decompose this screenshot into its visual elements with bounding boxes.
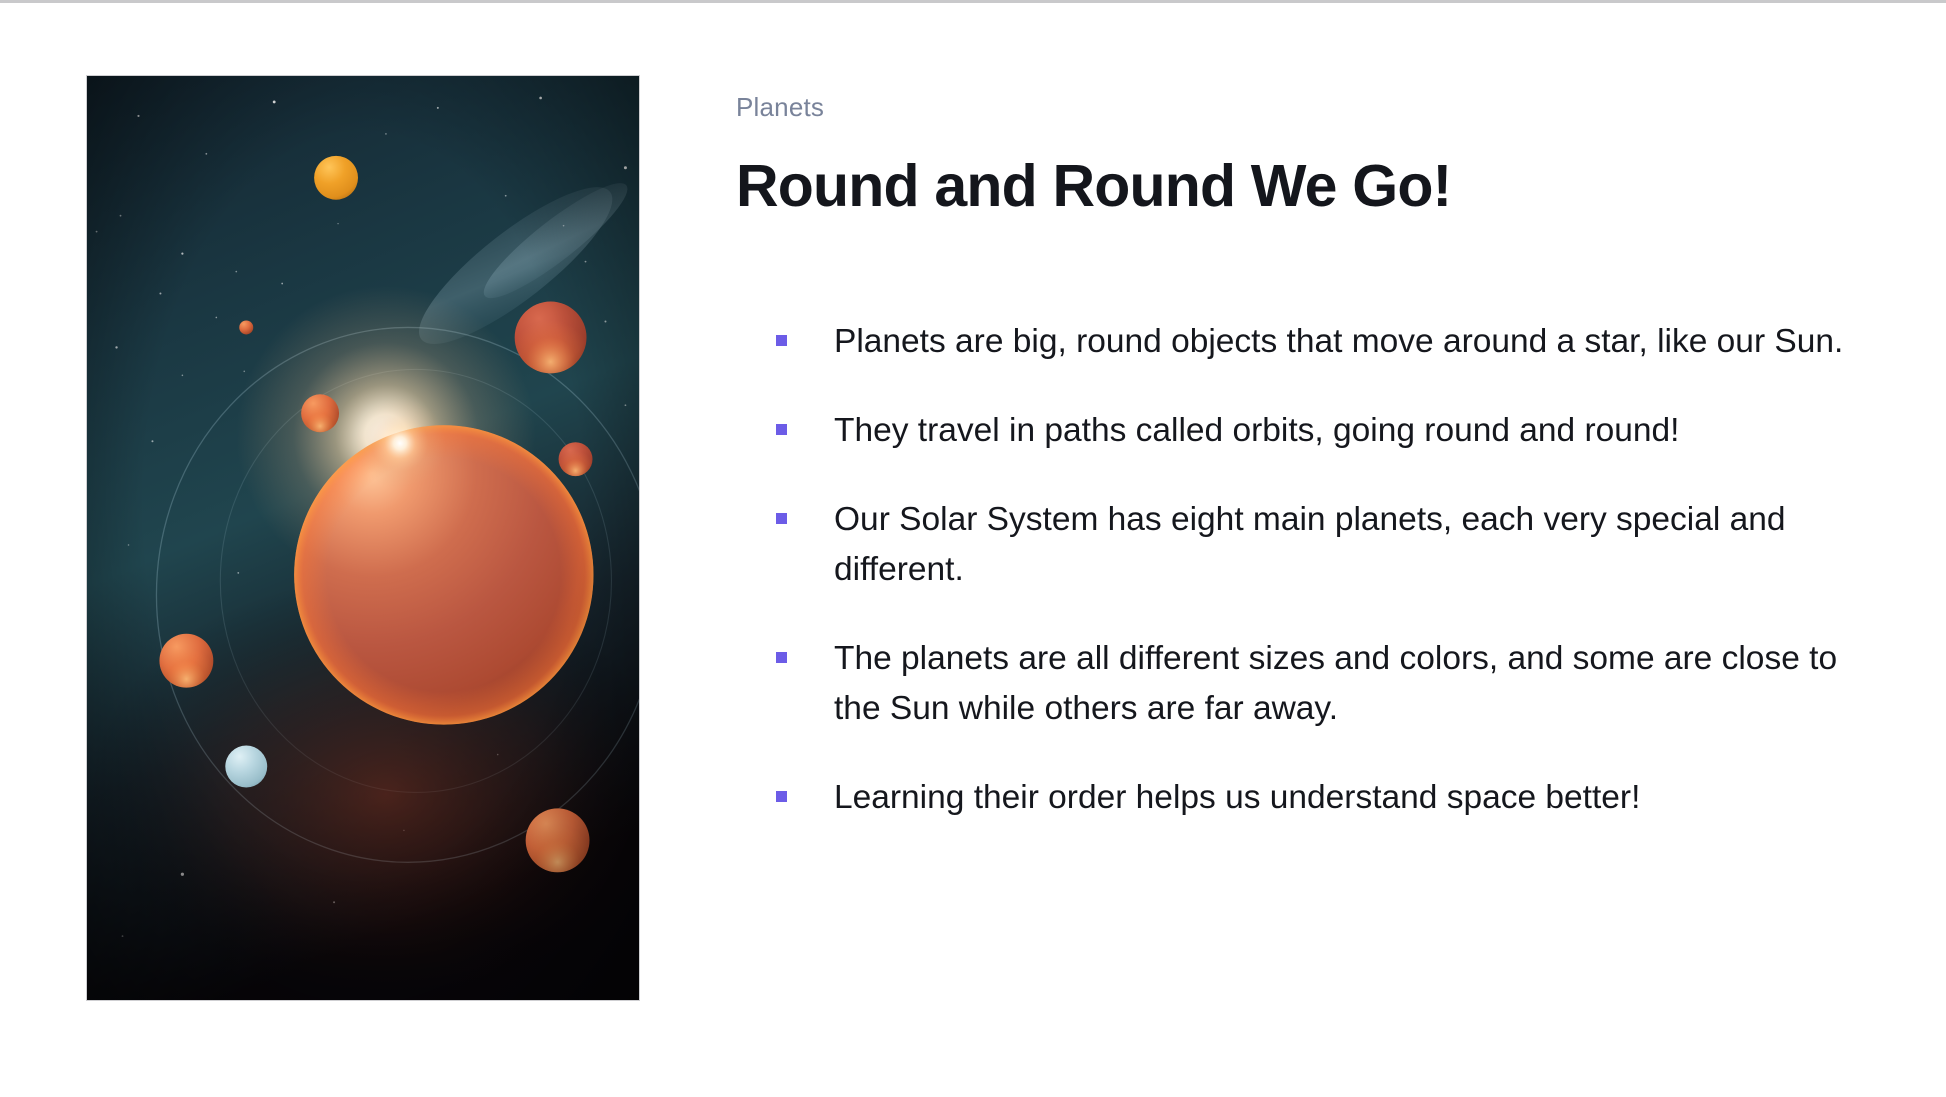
list-item: Our Solar System has eight main planets,… xyxy=(736,495,1846,595)
text-column: Planets Round and Round We Go! Planets a… xyxy=(736,92,1866,823)
list-item: Learning their order helps us understand… xyxy=(736,773,1846,823)
list-item: Planets are big, round objects that move… xyxy=(736,317,1846,367)
eyebrow-label: Planets xyxy=(736,92,1866,123)
list-item-text: They travel in paths called orbits, goin… xyxy=(834,412,1679,449)
list-item: They travel in paths called orbits, goin… xyxy=(736,406,1846,456)
list-item: The planets are all different sizes and … xyxy=(736,634,1846,734)
page-title: Round and Round We Go! xyxy=(736,153,1866,219)
top-divider-rule xyxy=(0,0,1946,3)
bullet-square-icon xyxy=(776,424,787,435)
bullet-square-icon xyxy=(776,791,787,802)
vignette-overlay xyxy=(87,76,639,1000)
space-scene-svg xyxy=(87,76,639,1000)
list-item-text: Our Solar System has eight main planets,… xyxy=(834,501,1786,588)
bullet-square-icon xyxy=(776,335,787,346)
list-item-text: The planets are all different sizes and … xyxy=(834,640,1837,727)
bullet-square-icon xyxy=(776,652,787,663)
bullet-list: Planets are big, round objects that move… xyxy=(736,317,1846,822)
list-item-text: Learning their order helps us understand… xyxy=(834,779,1640,816)
planets-illustration xyxy=(86,75,640,1001)
list-item-text: Planets are big, round objects that move… xyxy=(834,323,1843,360)
slide: Planets Round and Round We Go! Planets a… xyxy=(0,0,1946,1097)
bullet-square-icon xyxy=(776,513,787,524)
